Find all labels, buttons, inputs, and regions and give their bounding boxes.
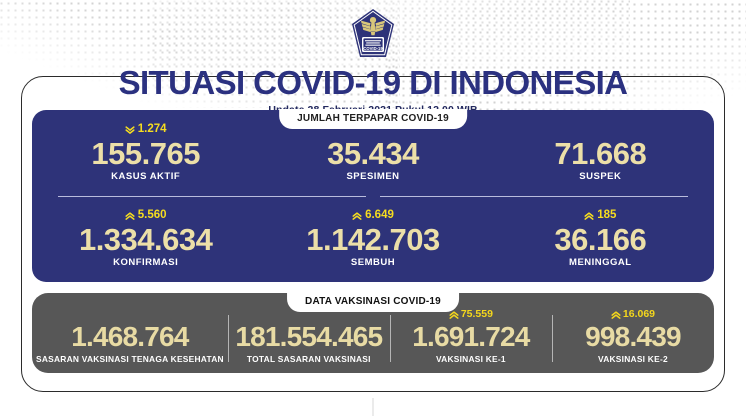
stat-total-sasaran-vaksinasi: 181.554.465 TOTAL SASARAN VAKSINASI <box>228 309 390 364</box>
chevron-up-icon <box>352 211 362 221</box>
kemenkes-garuda-logo: COVID-19 <box>350 8 396 62</box>
value-sembuh: 1.142.703 <box>306 224 439 256</box>
value-konfirmasi: 1.334.634 <box>79 224 212 256</box>
value-suspek: 71.668 <box>554 138 646 170</box>
chevron-down-icon <box>125 125 135 135</box>
cases-row-2: 5.560 1.334.634 KONFIRMASI 6.649 1.142.7… <box>32 196 714 282</box>
chevron-up-icon <box>125 211 135 221</box>
delta-value-vaksinasi-ke-1: 75.559 <box>461 309 493 320</box>
delta-value-konfirmasi: 5.560 <box>138 210 167 222</box>
page-title: SITUASI COVID-19 DI INDONESIA <box>0 66 746 99</box>
chevron-up-icon <box>611 310 621 320</box>
value-kasus-aktif: 155.765 <box>91 138 200 170</box>
cases-panel: JUMLAH TERPAPAR COVID-19 1.274 155.765 K… <box>32 110 714 282</box>
stat-vaksinasi-ke-2: 16.069 998.439 VAKSINASI KE-2 <box>552 309 714 364</box>
delta-sembuh: 6.649 <box>352 210 394 222</box>
stat-kasus-aktif: 1.274 155.765 KASUS AKTIF <box>32 110 259 196</box>
stat-suspek: 71.668 SUSPEK <box>487 110 714 196</box>
delta-vaksinasi-ke-2: 16.069 <box>611 309 655 320</box>
header: COVID-19 SITUASI COVID-19 DI INDONESIA U… <box>0 0 746 116</box>
vaccination-panel: DATA VAKSINASI COVID-19 1.468.764 SASARA… <box>32 293 714 373</box>
chevron-up-icon <box>449 310 459 320</box>
bottom-center-tick <box>373 398 374 416</box>
label-kasus-aktif: KASUS AKTIF <box>111 171 180 182</box>
delta-value-kasus-aktif: 1.274 <box>138 124 167 136</box>
label-konfirmasi: KONFIRMASI <box>113 257 178 268</box>
label-meninggal: MENINGGAL <box>569 257 632 268</box>
delta-konfirmasi: 5.560 <box>125 210 167 222</box>
value-vaksinasi-ke-1: 1.691.724 <box>412 323 529 351</box>
chevron-up-icon <box>584 211 594 221</box>
label-vaksinasi-ke-1: VAKSINASI KE-1 <box>436 354 506 364</box>
stat-sasaran-vaksinasi-nakes: 1.468.764 SASARAN VAKSINASI TENAGA KESEH… <box>32 309 228 364</box>
label-suspek: SUSPEK <box>579 171 621 182</box>
delta-meninggal: 185 <box>584 210 616 222</box>
value-meninggal: 36.166 <box>554 224 646 256</box>
delta-kasus-aktif: 1.274 <box>125 124 167 136</box>
label-total-sasaran-vaksinasi: TOTAL SASARAN VAKSINASI <box>247 354 371 364</box>
stat-meninggal: 185 36.166 MENINGGAL <box>487 196 714 282</box>
value-total-sasaran-vaksinasi: 181.554.465 <box>235 323 382 351</box>
delta-value-sembuh: 6.649 <box>365 210 394 222</box>
label-sembuh: SEMBUH <box>351 257 395 268</box>
label-vaksinasi-ke-2: VAKSINASI KE-2 <box>598 354 668 364</box>
stat-spesimen: 35.434 SPESIMEN <box>259 110 486 196</box>
value-spesimen: 35.434 <box>327 138 419 170</box>
stat-vaksinasi-ke-1: 75.559 1.691.724 VAKSINASI KE-1 <box>390 309 552 364</box>
value-vaksinasi-ke-2: 998.439 <box>585 323 681 351</box>
stat-sembuh: 6.649 1.142.703 SEMBUH <box>259 196 486 282</box>
delta-vaksinasi-ke-1: 75.559 <box>449 309 493 320</box>
label-sasaran-vaksinasi-nakes: SASARAN VAKSINASI TENAGA KESEHATAN <box>36 354 224 364</box>
label-spesimen: SPESIMEN <box>346 171 399 182</box>
delta-value-meninggal: 185 <box>597 210 616 222</box>
svg-text:COVID-19: COVID-19 <box>363 46 383 51</box>
stat-konfirmasi: 5.560 1.334.634 KONFIRMASI <box>32 196 259 282</box>
cases-row-1: 1.274 155.765 KASUS AKTIF 35.434 SPESIME… <box>32 110 714 196</box>
delta-value-vaksinasi-ke-2: 16.069 <box>623 309 655 320</box>
value-sasaran-vaksinasi-nakes: 1.468.764 <box>71 323 188 351</box>
